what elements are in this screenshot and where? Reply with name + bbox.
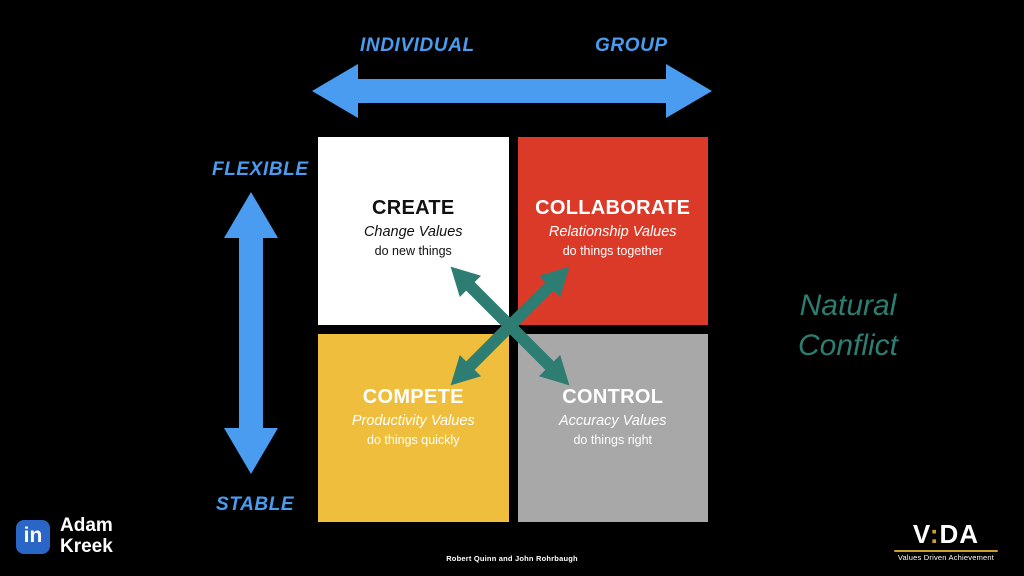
quadrant-create-values: Change Values xyxy=(364,224,463,241)
quadrant-compete-description: do things quickly xyxy=(367,433,459,448)
natural-conflict-note: Natural Conflict xyxy=(748,286,948,366)
brand-vida[interactable]: V:DA Values Driven Achievement xyxy=(886,521,1006,562)
quadrant-control-title: CONTROL xyxy=(562,386,663,409)
axis-label-individual: INDIVIDUAL xyxy=(360,35,475,57)
vida-wordmark-part1: V xyxy=(913,519,930,549)
natural-conflict-line-1: Natural xyxy=(748,286,948,326)
vida-underline-rule xyxy=(894,550,998,552)
quadrant-collaborate-values: Relationship Values xyxy=(549,224,677,241)
axis-label-stable: STABLE xyxy=(216,494,294,516)
quadrant-create-description: do new things xyxy=(375,244,452,259)
double-headed-vertical-arrow-icon xyxy=(222,192,280,474)
axis-label-group: GROUP xyxy=(595,35,668,57)
quadrant-compete-title: COMPETE xyxy=(363,386,464,409)
quadrant-control-values: Accuracy Values xyxy=(559,413,666,430)
vida-tagline: Values Driven Achievement xyxy=(886,554,1006,562)
vida-wordmark: V:DA xyxy=(886,521,1006,547)
slide-canvas: INDIVIDUAL GROUP FLEXIBLE STABLE CREATE … xyxy=(0,0,1024,576)
axis-label-flexible: FLEXIBLE xyxy=(212,159,309,181)
brand-adam-kreek[interactable]: in Adam Kreek xyxy=(16,516,113,557)
quadrant-compete-values: Productivity Values xyxy=(352,413,475,430)
crossed-double-headed-arrows-icon xyxy=(440,265,580,387)
natural-conflict-line-2: Conflict xyxy=(748,326,948,366)
quadrant-control-description: do things right xyxy=(573,433,652,448)
vida-wordmark-dot: : xyxy=(930,519,940,549)
linkedin-icon[interactable]: in xyxy=(16,520,50,554)
quadrant-collaborate-title: COLLABORATE xyxy=(535,197,690,220)
quadrant-collaborate-description: do things together xyxy=(563,244,663,259)
attribution-credit: Robert Quinn and John Rohrbaugh xyxy=(0,554,1024,563)
double-headed-horizontal-arrow-icon xyxy=(312,62,712,120)
vida-wordmark-part2: DA xyxy=(940,519,980,549)
quadrant-create-title: CREATE xyxy=(372,197,455,220)
brand-adam-kreek-name: Adam Kreek xyxy=(60,516,113,557)
